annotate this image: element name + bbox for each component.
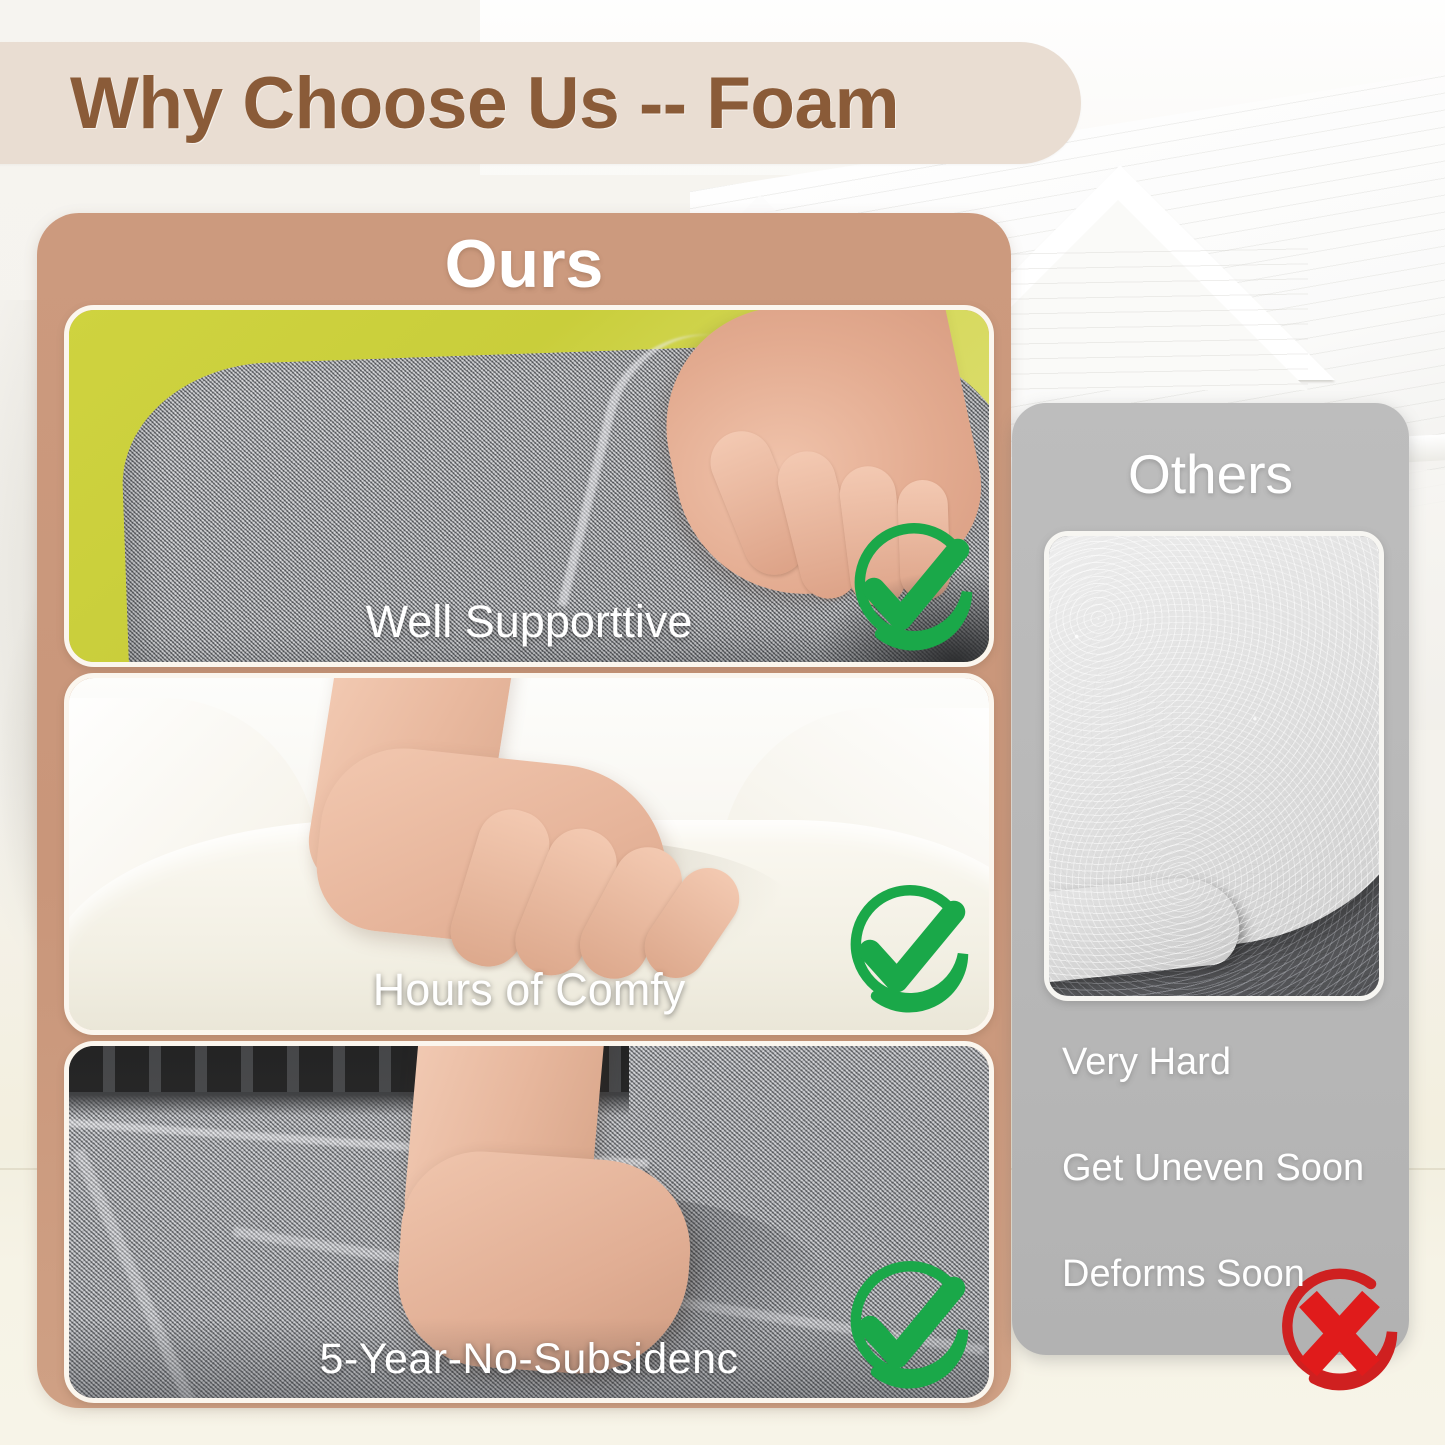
ours-card-1[interactable]: Well Supporttive [64,305,994,667]
ours-title: Ours [37,230,1011,298]
green-check-icon [831,876,981,1026]
others-item-3: Deforms Soon [1062,1255,1409,1293]
green-check-icon [835,514,985,664]
others-item-2: Get Uneven Soon [1062,1149,1409,1187]
ours-card-2[interactable]: Hours of Comfy [64,673,994,1035]
ours-panel: Ours Well Supporttive [37,213,1011,1408]
photo-hard-styrofoam [1049,536,1379,996]
ours-card-3[interactable]: 5-Year-No-Subsidenc [64,1041,994,1403]
others-drawback-list: Very Hard Get Uneven Soon Deforms Soon [1012,1043,1409,1293]
page-title: Why Choose Us -- Foam [70,67,899,140]
others-photo-card[interactable] [1044,531,1384,1001]
others-panel: Others Very Hard Get Uneven Soon Deforms… [1012,403,1409,1355]
infographic-canvas: Why Choose Us -- Foam Ours Well Supportt… [0,0,1445,1445]
title-banner: Why Choose Us -- Foam [0,42,1081,164]
green-check-icon [831,1252,981,1402]
others-title: Others [1012,447,1409,502]
styrofoam-grain [1049,536,1379,996]
others-item-1: Very Hard [1062,1043,1409,1081]
